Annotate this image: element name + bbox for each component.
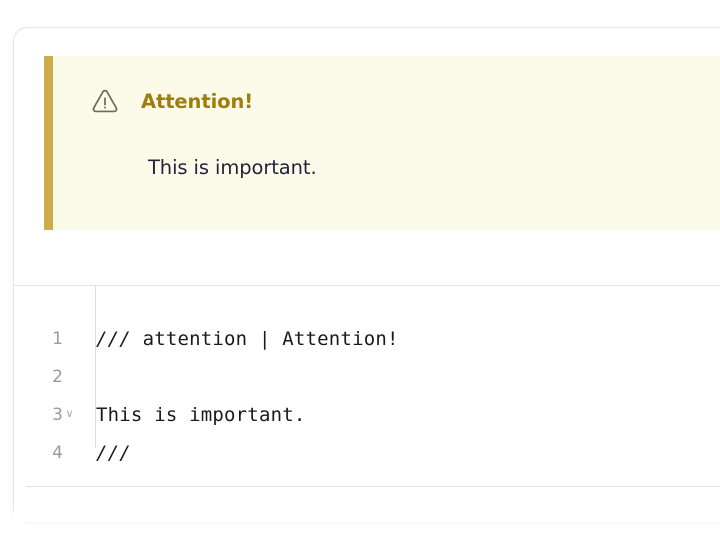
- admonition-body-text: This is important.: [148, 156, 317, 179]
- admonition-header: Attention!: [90, 86, 253, 116]
- code-token-plain: attention | Attention!: [143, 328, 399, 350]
- code-line-text: /// attention | Attention!: [82, 328, 399, 350]
- code-line-row[interactable]: 1/// attention | Attention!: [14, 320, 720, 358]
- line-number: 3: [52, 407, 63, 424]
- line-number: 1: [52, 331, 63, 348]
- admonition-card: Attention! This is important. 1/// atten…: [13, 27, 720, 521]
- app-screen: Attention! This is important. 1/// atten…: [0, 0, 720, 544]
- admonition-block: Attention! This is important.: [44, 56, 720, 230]
- code-editor-pane[interactable]: 1/// attention | Attention!23∨This is im…: [14, 286, 720, 522]
- editor-bottom-divider: [26, 486, 720, 487]
- code-line-row[interactable]: 2: [14, 358, 720, 396]
- line-number: 2: [52, 369, 63, 386]
- code-line-row[interactable]: 3∨This is important.: [14, 396, 720, 434]
- code-line-text: ///: [82, 442, 131, 464]
- line-number: 4: [52, 445, 63, 462]
- chevron-down-icon[interactable]: ∨: [63, 409, 76, 421]
- code-token-comment: ///: [96, 442, 131, 464]
- line-gutter: 4: [14, 434, 82, 472]
- code-line-row[interactable]: 4///: [14, 434, 720, 472]
- warning-triangle-icon: [90, 86, 120, 116]
- line-gutter: 1: [14, 320, 82, 358]
- code-line-text: This is important.: [82, 404, 306, 426]
- code-token-comment: ///: [96, 328, 143, 350]
- preview-pane: Attention! This is important.: [14, 28, 720, 286]
- line-gutter: 3∨: [14, 396, 82, 434]
- fold-marker-empty: [63, 453, 76, 454]
- admonition-title: Attention!: [141, 90, 253, 113]
- fold-marker-empty: [63, 339, 76, 340]
- fold-marker-empty: [63, 377, 76, 378]
- line-gutter: 2: [14, 358, 82, 396]
- code-lines: 1/// attention | Attention!23∨This is im…: [14, 320, 720, 472]
- code-token-plain: This is important.: [96, 404, 306, 426]
